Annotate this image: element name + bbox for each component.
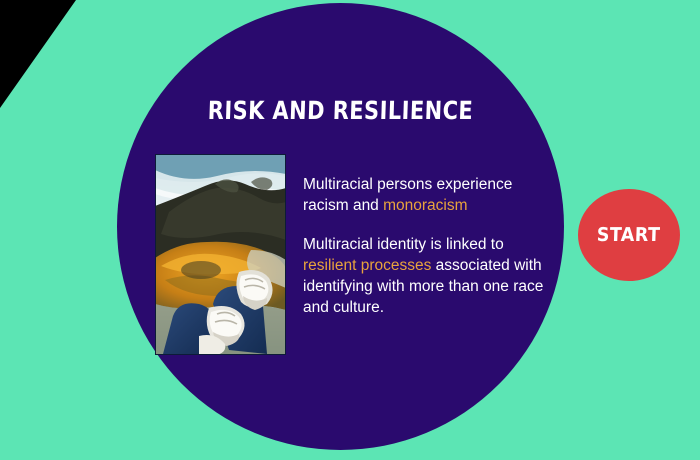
paragraph-1: Multiracial persons experience racism an… (303, 174, 558, 216)
paragraph-2-lead: Multiracial identity is linked to (303, 236, 504, 253)
start-button-label: START (597, 224, 661, 246)
paragraph-1-highlight: monoracism (383, 197, 467, 214)
page-title: RISK AND RESILIENCE (132, 96, 549, 125)
corner-wedge-decoration (0, 0, 76, 108)
body-copy: Multiracial persons experience racism an… (303, 174, 558, 318)
start-button[interactable]: START (578, 189, 680, 281)
paragraph-2: Multiracial identity is linked to resili… (303, 234, 558, 318)
slide-canvas: RISK AND RESILIENCE (0, 0, 700, 460)
photo-feet-on-rock (155, 154, 286, 355)
paragraph-2-highlight: resilient processes (303, 257, 431, 274)
photo-illustration (155, 154, 286, 355)
